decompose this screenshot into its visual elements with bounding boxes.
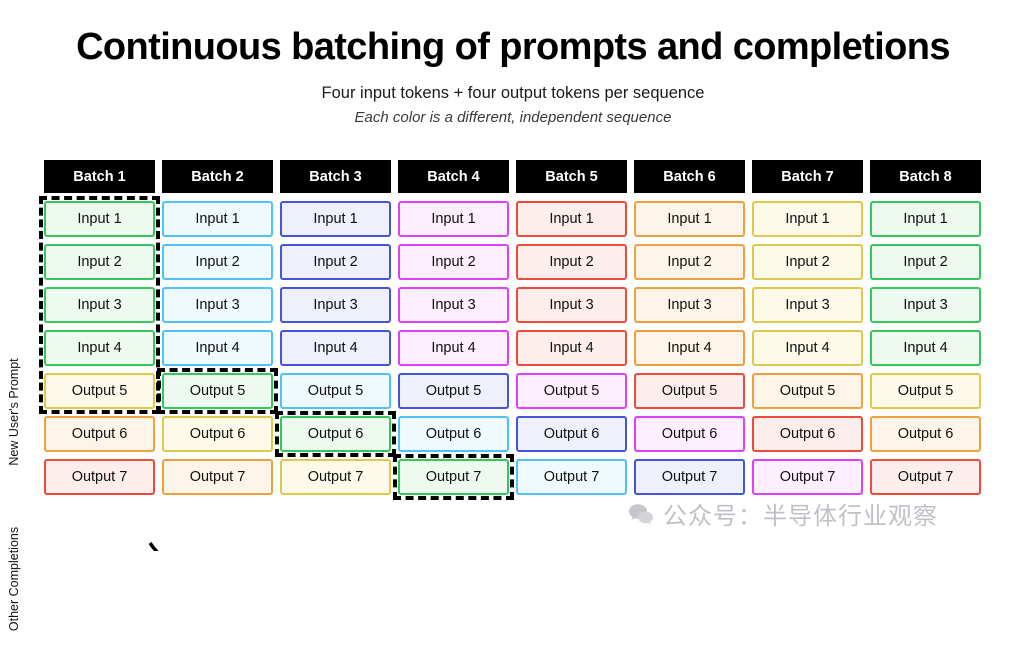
batch-column-header[interactable]: Batch 6 bbox=[634, 160, 745, 193]
axis-label-other-completions: Other Completions bbox=[7, 504, 21, 654]
token-cell[interactable]: Output 7 bbox=[162, 459, 273, 495]
token-cell[interactable]: Output 6 bbox=[870, 416, 981, 452]
token-cell[interactable]: Input 2 bbox=[398, 244, 509, 280]
token-cell[interactable]: Output 7 bbox=[634, 459, 745, 495]
token-cell[interactable]: Output 6 bbox=[44, 416, 155, 452]
batch-row: Input 2Input 2Input 2Input 2Input 2Input… bbox=[44, 244, 981, 280]
token-cell[interactable]: Output 5 bbox=[752, 373, 863, 409]
batch-column-header[interactable]: Batch 5 bbox=[516, 160, 627, 193]
token-cell[interactable]: Output 7 bbox=[398, 459, 509, 495]
token-cell[interactable]: Input 4 bbox=[280, 330, 391, 366]
token-cell[interactable]: Input 3 bbox=[752, 287, 863, 323]
token-cell[interactable]: Input 4 bbox=[870, 330, 981, 366]
arrow-batch1-to-batch2 bbox=[150, 543, 180, 551]
watermark: 公众号：半导体行业观察 bbox=[628, 496, 938, 531]
token-cell[interactable]: Output 5 bbox=[280, 373, 391, 409]
token-cell[interactable]: Input 2 bbox=[516, 244, 627, 280]
token-cell[interactable]: Input 1 bbox=[280, 201, 391, 237]
batch-row: Output 5Output 5Output 5Output 5Output 5… bbox=[44, 373, 981, 409]
batch-row: Input 3Input 3Input 3Input 3Input 3Input… bbox=[44, 287, 981, 323]
token-cell[interactable]: Output 5 bbox=[870, 373, 981, 409]
token-cell[interactable]: Output 5 bbox=[44, 373, 155, 409]
token-cell[interactable]: Input 3 bbox=[280, 287, 391, 323]
watermark-text: 公众号：半导体行业观察 bbox=[663, 496, 938, 531]
batch-column-header[interactable]: Batch 7 bbox=[752, 160, 863, 193]
token-cell[interactable]: Output 5 bbox=[398, 373, 509, 409]
batch-column-header[interactable]: Batch 3 bbox=[280, 160, 391, 193]
token-cell[interactable]: Output 6 bbox=[162, 416, 273, 452]
token-cell[interactable]: Input 2 bbox=[162, 244, 273, 280]
token-cell[interactable]: Input 4 bbox=[752, 330, 863, 366]
batch-row: Input 1Input 1Input 1Input 1Input 1Input… bbox=[44, 201, 981, 237]
token-cell[interactable]: Input 3 bbox=[162, 287, 273, 323]
batch-row: Output 6Output 6Output 6Output 6Output 6… bbox=[44, 416, 981, 452]
token-cell[interactable]: Input 4 bbox=[634, 330, 745, 366]
token-cell[interactable]: Input 2 bbox=[752, 244, 863, 280]
batch-column-header[interactable]: Batch 1 bbox=[44, 160, 155, 193]
token-cell[interactable]: Output 5 bbox=[634, 373, 745, 409]
token-cell[interactable]: Input 1 bbox=[634, 201, 745, 237]
token-cell[interactable]: Output 6 bbox=[634, 416, 745, 452]
subtitle-secondary: Each color is a different, independent s… bbox=[0, 109, 1026, 127]
axis-label-new-users-prompt: New User's Prompt bbox=[7, 337, 21, 487]
speech-bubble-icon bbox=[628, 503, 654, 525]
batch-column-header[interactable]: Batch 4 bbox=[398, 160, 509, 193]
token-cell[interactable]: Input 1 bbox=[516, 201, 627, 237]
subtitle-primary: Four input tokens + four output tokens p… bbox=[0, 84, 1026, 104]
token-cell[interactable]: Output 5 bbox=[162, 373, 273, 409]
token-cell[interactable]: Input 4 bbox=[162, 330, 273, 366]
token-cell[interactable]: Input 3 bbox=[870, 287, 981, 323]
token-cell[interactable]: Output 6 bbox=[752, 416, 863, 452]
batch-row: Input 4Input 4Input 4Input 4Input 4Input… bbox=[44, 330, 981, 366]
token-cell[interactable]: Input 2 bbox=[870, 244, 981, 280]
token-cell[interactable]: Output 6 bbox=[516, 416, 627, 452]
page-title: Continuous batching of prompts and compl… bbox=[0, 26, 1026, 70]
batch-body: Input 1Input 1Input 1Input 1Input 1Input… bbox=[44, 201, 981, 495]
header-block: Continuous batching of prompts and compl… bbox=[0, 0, 1026, 127]
token-cell[interactable]: Input 1 bbox=[752, 201, 863, 237]
batch-header-row: Batch 1Batch 2Batch 3Batch 4Batch 5Batch… bbox=[44, 160, 981, 193]
token-cell[interactable]: Input 3 bbox=[634, 287, 745, 323]
token-cell[interactable]: Input 1 bbox=[44, 201, 155, 237]
token-cell[interactable]: Input 2 bbox=[44, 244, 155, 280]
batch-column-header[interactable]: Batch 2 bbox=[162, 160, 273, 193]
batch-column-header[interactable]: Batch 8 bbox=[870, 160, 981, 193]
token-cell[interactable]: Input 2 bbox=[280, 244, 391, 280]
token-cell[interactable]: Input 4 bbox=[44, 330, 155, 366]
token-cell[interactable]: Output 7 bbox=[870, 459, 981, 495]
token-cell[interactable]: Input 2 bbox=[634, 244, 745, 280]
token-cell[interactable]: Input 4 bbox=[398, 330, 509, 366]
token-cell[interactable]: Input 3 bbox=[44, 287, 155, 323]
token-cell[interactable]: Input 3 bbox=[516, 287, 627, 323]
token-cell[interactable]: Output 6 bbox=[280, 416, 391, 452]
token-cell[interactable]: Input 1 bbox=[870, 201, 981, 237]
token-cell[interactable]: Output 7 bbox=[752, 459, 863, 495]
batch-grid: Batch 1Batch 2Batch 3Batch 4Batch 5Batch… bbox=[44, 160, 981, 502]
batching-diagram: New User's Prompt Other Completions Batc… bbox=[0, 160, 1026, 551]
token-cell[interactable]: Output 7 bbox=[280, 459, 391, 495]
token-cell[interactable]: Input 3 bbox=[398, 287, 509, 323]
token-cell[interactable]: Output 6 bbox=[398, 416, 509, 452]
batch-row: Output 7Output 7Output 7Output 7Output 7… bbox=[44, 459, 981, 495]
token-cell[interactable]: Input 1 bbox=[398, 201, 509, 237]
token-cell[interactable]: Input 4 bbox=[516, 330, 627, 366]
token-cell[interactable]: Input 1 bbox=[162, 201, 273, 237]
token-cell[interactable]: Output 5 bbox=[516, 373, 627, 409]
token-cell[interactable]: Output 7 bbox=[44, 459, 155, 495]
token-cell[interactable]: Output 7 bbox=[516, 459, 627, 495]
